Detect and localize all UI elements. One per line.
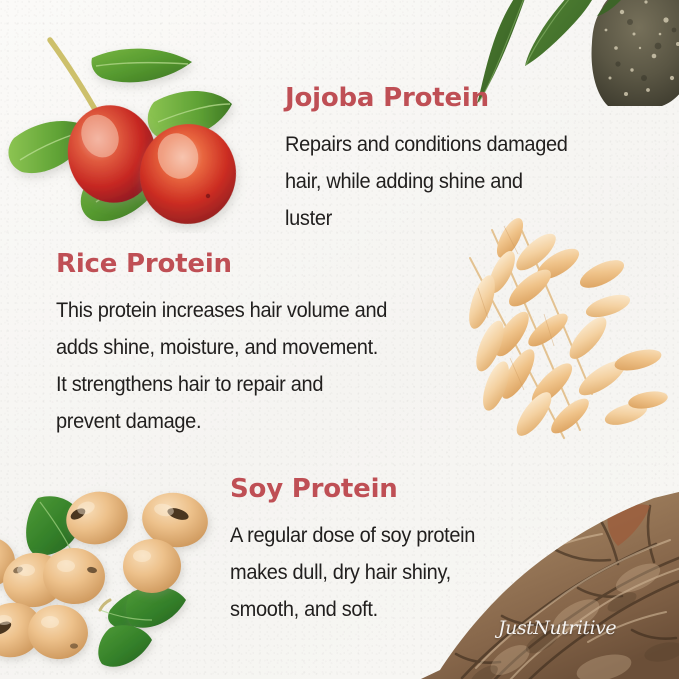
rice-body: This protein increases hair volume and a… <box>56 292 387 440</box>
jojoba-body-line-2: hair, while adding shine and <box>285 163 568 200</box>
rice-heading: Rice Protein <box>56 250 412 279</box>
soy-heading: Soy Protein <box>230 475 494 504</box>
soy-body: A regular dose of soy protein makes dull… <box>230 517 475 628</box>
jojoba-body-line-3: luster <box>285 200 568 237</box>
jojoba-body: Repairs and conditions damaged hair, whi… <box>285 126 568 237</box>
speckled-rock-photo <box>588 0 679 106</box>
rice-grain-sprig-photo <box>452 218 679 458</box>
rice-body-line-1: This protein increases hair volume and <box>56 292 387 329</box>
soy-body-line-1: A regular dose of soy protein <box>230 517 475 554</box>
rice-body-line-2: adds shine, moisture, and movement. <box>56 329 387 366</box>
soybeans-photo <box>0 470 232 679</box>
brand-watermark: JustNutritive <box>498 617 616 639</box>
section-rice: Rice Protein This protein increases hair… <box>56 250 412 440</box>
jojoba-heading: Jojoba Protein <box>285 84 589 113</box>
soy-body-line-3: smooth, and soft. <box>230 591 475 628</box>
rice-body-line-3: It strengthens hair to repair and <box>56 366 387 403</box>
section-jojoba: Jojoba Protein Repairs and conditions da… <box>285 84 589 237</box>
jojoba-body-line-1: Repairs and conditions damaged <box>285 126 568 163</box>
rice-body-line-4: prevent damage. <box>56 403 387 440</box>
soy-body-line-2: makes dull, dry hair shiny, <box>230 554 475 591</box>
jojoba-berries-photo <box>0 18 266 233</box>
infographic-canvas: Jojoba Protein Repairs and conditions da… <box>0 0 679 679</box>
section-soy: Soy Protein A regular dose of soy protei… <box>230 475 494 628</box>
